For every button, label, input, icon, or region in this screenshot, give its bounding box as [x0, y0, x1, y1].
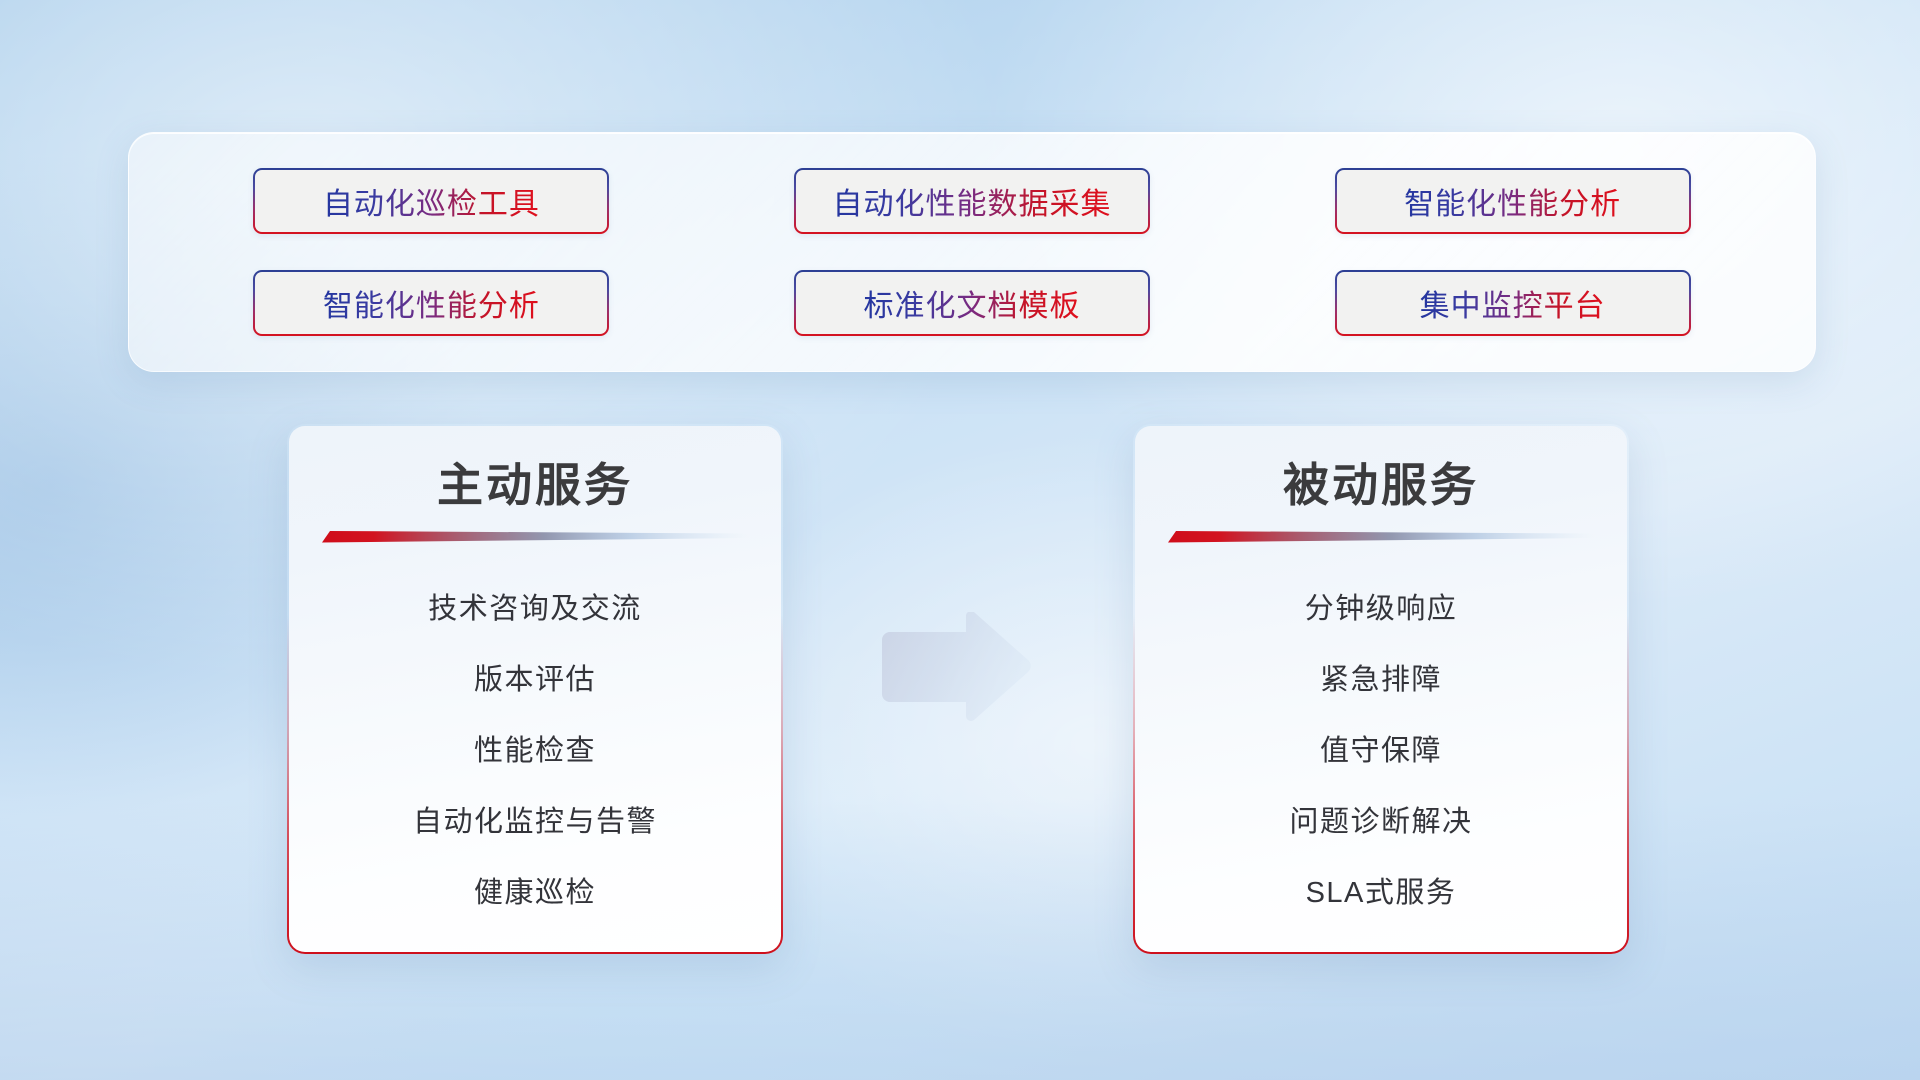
service-card-title: 主动服务: [437, 462, 633, 508]
capability-pill-surface: 智能化性能分析: [255, 272, 607, 334]
capability-pill-surface: 标准化文档模板: [796, 272, 1148, 334]
service-card-list: 分钟级响应 紧急排障 值守保障 问题诊断解决 SLA式服务: [1135, 574, 1627, 929]
service-list-item: SLA式服务: [1306, 858, 1457, 929]
service-card-passive: 被动服务 分钟级响应 紧急排障: [1133, 424, 1629, 954]
service-list-item: 版本评估: [474, 645, 596, 716]
capability-pill-label: 自动化巡检工具: [323, 179, 540, 223]
capability-pill-surface: 自动化性能数据采集: [796, 170, 1148, 232]
capability-pill-label: 智能化性能分析: [1404, 179, 1621, 223]
capability-panel: 自动化巡检工具 自动化性能数据采集 智能化性能分析 智能化性能分析 标准化文档模…: [128, 132, 1816, 372]
capability-pill-label: 智能化性能分析: [323, 281, 540, 325]
service-list-item: 技术咨询及交流: [428, 574, 642, 645]
service-list-item: 值守保障: [1320, 716, 1442, 787]
capability-pill-label: 集中监控平台: [1420, 281, 1606, 325]
card-divider: [320, 530, 750, 544]
service-list-item: 问题诊断解决: [1289, 787, 1472, 858]
capability-pill-surface: 自动化巡检工具: [255, 170, 607, 232]
service-card-active: 主动服务 技术咨询及交流 版本评估: [287, 424, 783, 954]
service-card-list: 技术咨询及交流 版本评估 性能检查 自动化监控与告警 健康巡检: [289, 574, 781, 929]
capability-pill[interactable]: 智能化性能分析: [253, 270, 609, 336]
service-list-item: 自动化监控与告警: [413, 787, 657, 858]
capability-pill[interactable]: 标准化文档模板: [794, 270, 1150, 336]
service-card-surface: 主动服务 技术咨询及交流 版本评估: [289, 426, 781, 952]
service-list-item: 分钟级响应: [1305, 574, 1458, 645]
capability-pill-label: 标准化文档模板: [863, 281, 1080, 325]
card-divider: [1166, 530, 1596, 544]
capability-pill[interactable]: 自动化性能数据采集: [794, 168, 1150, 234]
service-list-item: 性能检查: [474, 716, 596, 787]
arrow-right-icon: [872, 612, 1032, 722]
capability-pill-label: 自动化性能数据采集: [832, 179, 1111, 223]
service-list-item: 紧急排障: [1320, 645, 1442, 716]
capability-pill[interactable]: 自动化巡检工具: [253, 168, 609, 234]
service-card-title: 被动服务: [1283, 462, 1479, 508]
service-list-item: 健康巡检: [474, 858, 596, 929]
capability-pill-surface: 智能化性能分析: [1337, 170, 1689, 232]
capability-pill-surface: 集中监控平台: [1337, 272, 1689, 334]
capability-pill[interactable]: 集中监控平台: [1335, 270, 1691, 336]
capability-pill[interactable]: 智能化性能分析: [1335, 168, 1691, 234]
service-card-surface: 被动服务 分钟级响应 紧急排障: [1135, 426, 1627, 952]
